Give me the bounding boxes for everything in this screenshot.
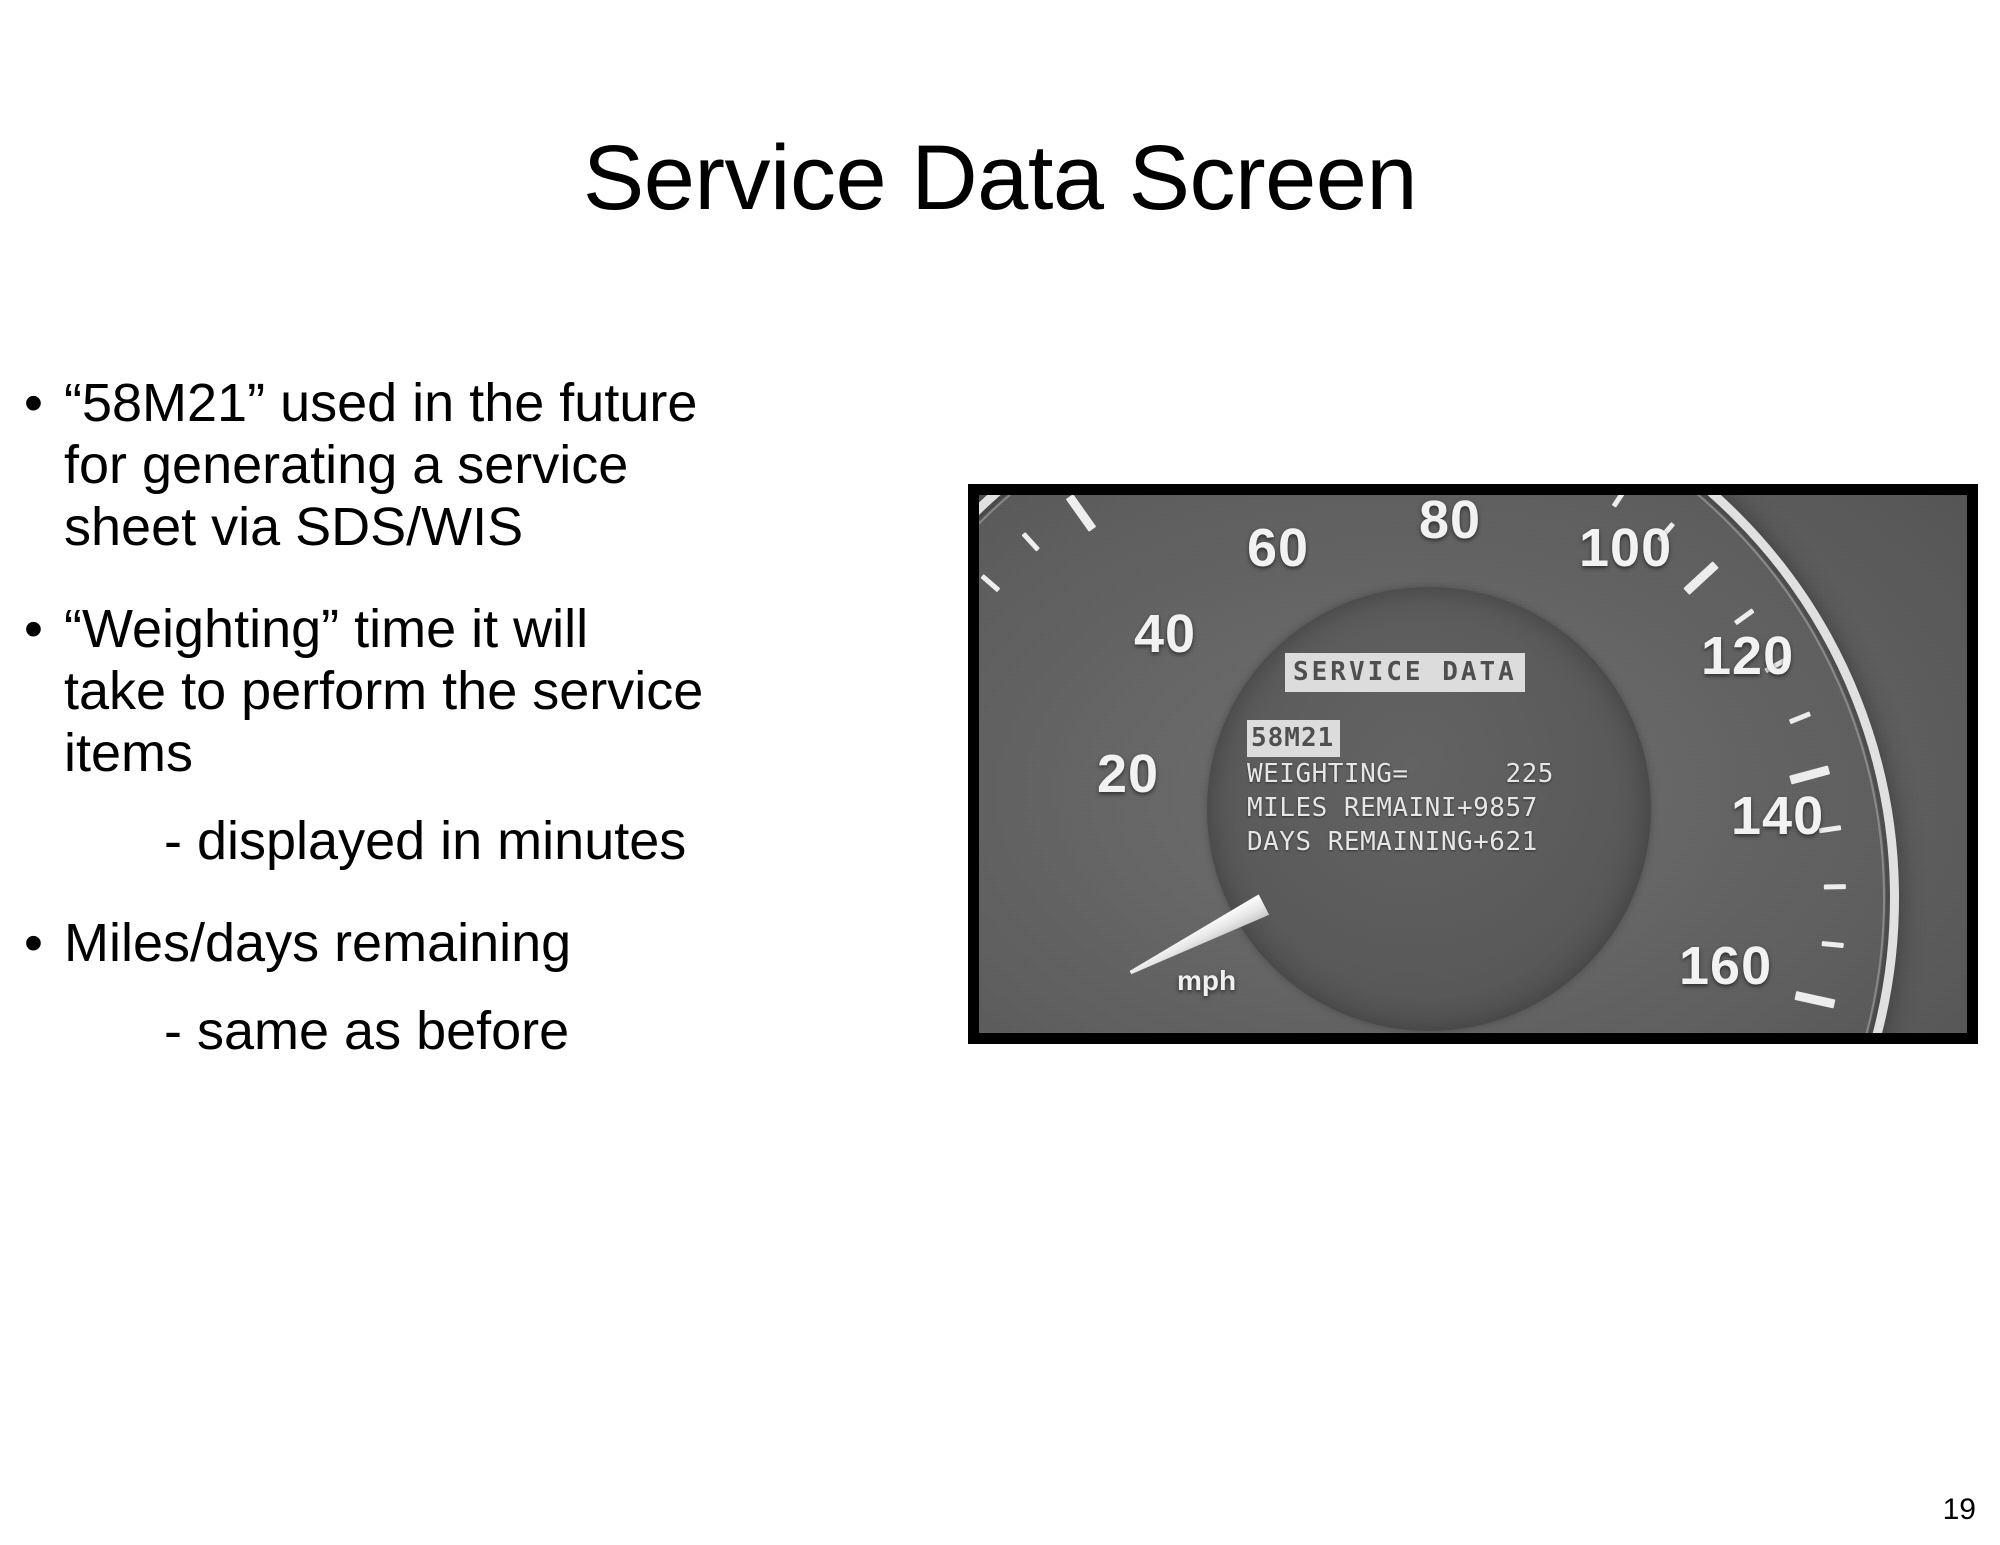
dial-number-20: 20 [1097,743,1159,805]
bullet-text-line: items [64,722,744,784]
gauge-tick-minor [1789,711,1811,724]
sub-bullet-group: - same as before [24,1000,744,1062]
gauge-tick-minor [1734,608,1755,625]
list-item: • “Weighting” time it will take to perfo… [24,598,744,784]
dial-number-60: 60 [1247,517,1309,579]
bullet-text-line: take to perform the service [64,660,744,722]
dial-number-160: 160 [1679,935,1772,997]
gauge-tick-minor [1022,532,1040,552]
lcd-rows: 58M21 WEIGHTING= 225 MILES REMAINI+9857 … [1247,720,1623,859]
bullet-text-line: “58M21” used in the future [64,372,744,434]
lcd-row-miles-remaining: MILES REMAINI+9857 [1247,791,1623,825]
mph-unit-label: mph [1177,965,1236,997]
bullet-body: “58M21” used in the future for generatin… [64,372,744,558]
dial-number-120: 120 [1701,625,1794,687]
bullet-marker: • [24,598,64,660]
dial-number-140: 140 [1731,785,1824,847]
bullet-marker: • [24,372,64,434]
bullet-marker: • [24,912,64,974]
gauge-tick-minor [1612,495,1628,508]
list-item: • Miles/days remaining [24,912,744,974]
bullet-body: Miles/days remaining [64,912,744,974]
dial-number-80: 80 [1419,495,1481,551]
gauge-tick-minor [1822,941,1844,948]
lcd-display: SERVICE DATA 58M21 WEIGHTING= 225 MILES … [1247,653,1623,859]
bullet-list: • “58M21” used in the future for generat… [24,372,744,1102]
gauge-tick-major [1794,991,1835,1008]
gauge-tick-major [1066,495,1096,532]
gauge-tick-minor [980,574,1000,592]
sub-bullet-text: - same as before [24,1000,744,1062]
bullet-body: “Weighting” time it will take to perform… [64,598,744,784]
bullet-text-line: Miles/days remaining [64,912,744,974]
sub-bullet-group: - displayed in minutes [24,810,744,872]
lcd-header-service-data: SERVICE DATA [1285,653,1525,692]
list-item: • “58M21” used in the future for generat… [24,372,744,558]
page-number: 19 [1943,1493,1976,1527]
bullet-text-line: sheet via SDS/WIS [64,496,744,558]
bullet-text-line: “Weighting” time it will [64,598,744,660]
speedometer-dial: 20 40 60 80 100 120 140 160 mph SERVICE … [979,495,1967,1033]
bullet-text-line: for generating a service [64,434,744,496]
page-title: Service Data Screen [0,130,2000,227]
lcd-row-days-remaining: DAYS REMAINING+621 [1247,825,1623,859]
sub-bullet-text: - displayed in minutes [24,810,744,872]
lcd-code-58m21: 58M21 [1247,720,1340,757]
instrument-cluster-photo: 20 40 60 80 100 120 140 160 mph SERVICE … [968,484,1978,1044]
dial-number-40: 40 [1134,603,1196,665]
gauge-tick-minor [1824,884,1846,890]
lcd-row-weighting: WEIGHTING= 225 [1247,757,1623,791]
dial-number-100: 100 [1579,517,1672,579]
gauge-tick-major [1789,765,1830,784]
gauge-tick-major [1683,561,1719,595]
